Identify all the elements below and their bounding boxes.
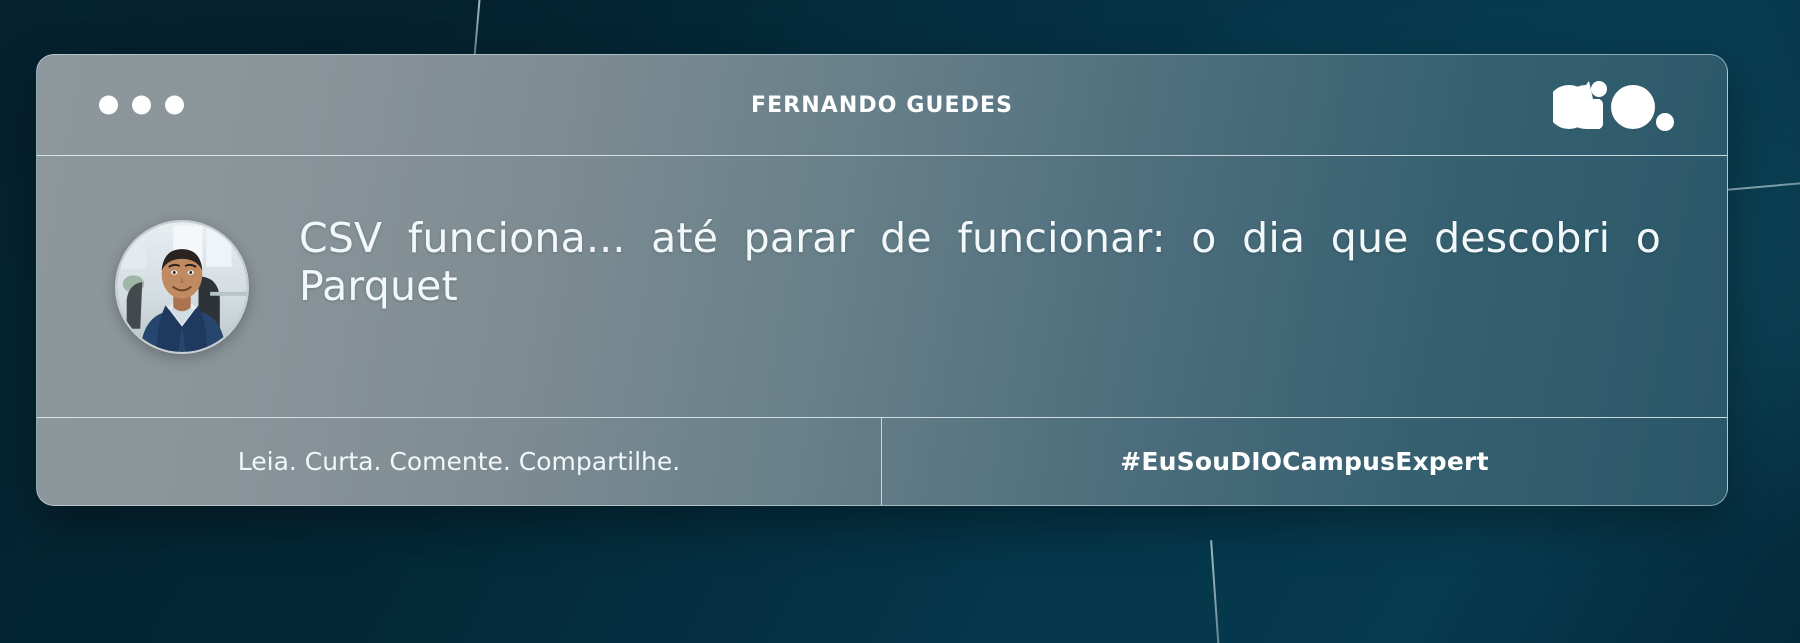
browser-window-card: FERNANDO GUEDES <box>36 54 1728 506</box>
window-title: FERNANDO GUEDES <box>37 93 1727 118</box>
background-accent-line-bottom <box>1210 540 1222 643</box>
footer-hashtag-label: #EuSouDIOCampusExpert <box>1120 447 1488 476</box>
card-body: CSV funciona... até parar de funcionar: … <box>37 156 1727 417</box>
window-maximize-dot[interactable] <box>165 96 184 115</box>
footer-cta-label: Leia. Curta. Comente. Compartilhe. <box>238 447 680 476</box>
avatar <box>115 220 249 354</box>
footer-cta: Leia. Curta. Comente. Compartilhe. <box>37 418 882 505</box>
window-close-dot[interactable] <box>99 96 118 115</box>
footer-hashtag: #EuSouDIOCampusExpert <box>882 418 1727 505</box>
window-minimize-dot[interactable] <box>132 96 151 115</box>
dio-logo-icon <box>1553 79 1679 131</box>
window-titlebar: FERNANDO GUEDES <box>37 55 1727 156</box>
card-footer: Leia. Curta. Comente. Compartilhe. #EuSo… <box>37 417 1727 505</box>
slide-canvas: FERNANDO GUEDES <box>0 0 1800 643</box>
window-controls[interactable] <box>99 96 184 115</box>
headline-text: CSV funciona... até parar de funcionar: … <box>299 215 1661 358</box>
